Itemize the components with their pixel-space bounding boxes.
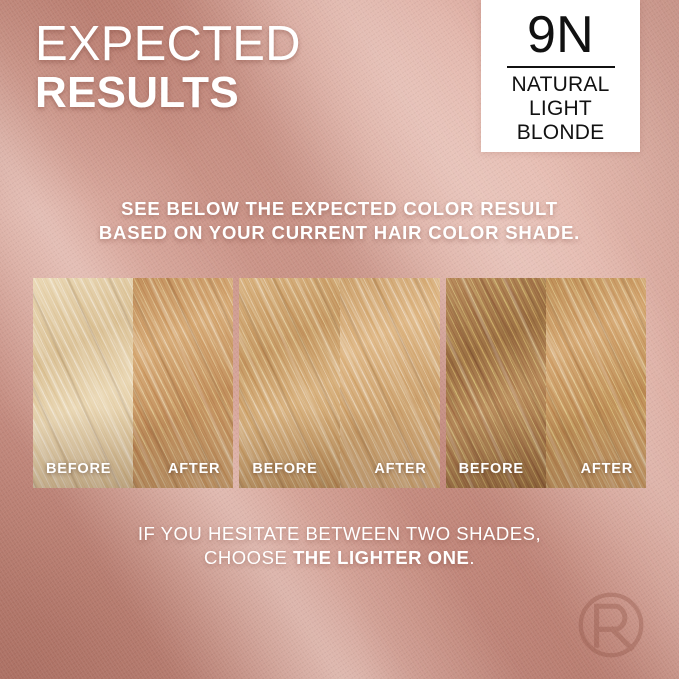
circled-r-logo-icon <box>575 589 647 661</box>
swatch-comparison-3: BEFORE AFTER <box>446 278 646 488</box>
swatch-2-after-label: AFTER <box>374 461 426 477</box>
swatch-2-before-label: BEFORE <box>252 461 317 477</box>
page-title-line-2: RESULTS <box>35 72 301 114</box>
page-title: EXPECTED RESULTS <box>35 21 301 113</box>
footnote-line-2-suffix: . <box>469 547 475 568</box>
swatch-1-before-label: BEFORE <box>46 461 111 477</box>
footnote-line-2: CHOOSE THE LIGHTER ONE. <box>0 546 679 570</box>
shade-name-line-1: NATURAL <box>512 73 610 97</box>
subtitle: SEE BELOW THE EXPECTED COLOR RESULT BASE… <box>0 197 679 245</box>
swatch-comparison-2: BEFORE AFTER <box>239 278 439 488</box>
shade-badge: 9N NATURAL LIGHT BLONDE <box>481 0 640 152</box>
swatch-1-before-hair <box>33 278 133 488</box>
footnote-line-1: IF YOU HESITATE BETWEEN TWO SHADES, <box>0 522 679 546</box>
shade-name: NATURAL LIGHT BLONDE <box>512 73 610 144</box>
before-after-swatch-row: BEFORE AFTER BEFORE AFTER BEFORE AFTER <box>33 278 646 488</box>
footnote-line-2-emphasis: THE LIGHTER ONE <box>293 547 469 568</box>
page-title-line-1: EXPECTED <box>35 21 301 68</box>
swatch-3-after-label: AFTER <box>581 461 633 477</box>
shade-name-line-3: BLONDE <box>512 121 610 145</box>
shade-code: 9N <box>527 8 594 63</box>
badge-divider <box>507 66 615 68</box>
footnote-line-2-prefix: CHOOSE <box>204 547 293 568</box>
swatch-1-after-hair <box>133 278 233 488</box>
shade-name-line-2: LIGHT <box>512 97 610 121</box>
subtitle-line-2: BASED ON YOUR CURRENT HAIR COLOR SHADE. <box>0 221 679 245</box>
expected-results-panel: EXPECTED RESULTS 9N NATURAL LIGHT BLONDE… <box>0 0 679 679</box>
swatch-3-before-label: BEFORE <box>459 461 524 477</box>
swatch-3-after-hair <box>546 278 646 488</box>
swatch-3-before-hair <box>446 278 546 488</box>
subtitle-line-1: SEE BELOW THE EXPECTED COLOR RESULT <box>0 197 679 221</box>
swatch-2-after-hair <box>340 278 440 488</box>
swatch-1-after-label: AFTER <box>168 461 220 477</box>
swatch-2-before-hair <box>239 278 339 488</box>
footnote: IF YOU HESITATE BETWEEN TWO SHADES, CHOO… <box>0 522 679 570</box>
swatch-comparison-1: BEFORE AFTER <box>33 278 233 488</box>
